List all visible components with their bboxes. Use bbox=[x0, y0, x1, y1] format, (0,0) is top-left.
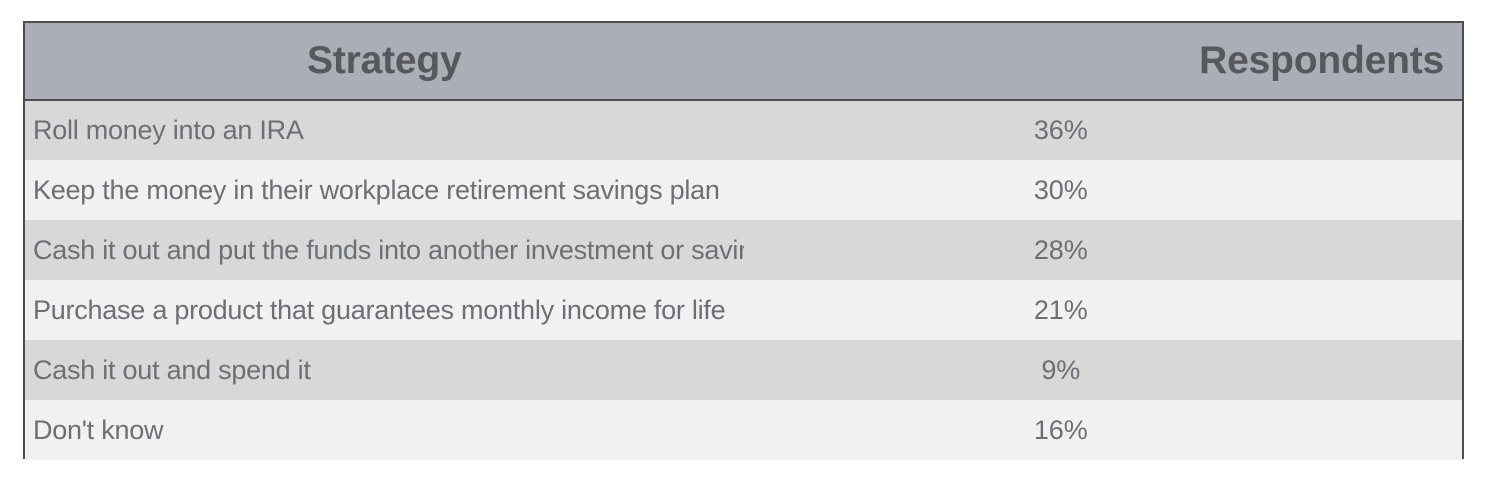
cell-strategy: Cash it out and spend it bbox=[25, 340, 744, 400]
table-body: Roll money into an IRA 36% Keep the mone… bbox=[25, 100, 1462, 460]
cell-strategy: Roll money into an IRA bbox=[25, 100, 744, 160]
table-row: Keep the money in their workplace retire… bbox=[25, 160, 1462, 220]
cell-strategy: Keep the money in their workplace retire… bbox=[25, 160, 744, 220]
cell-respondents: 30% bbox=[744, 160, 1463, 220]
cell-strategy: Cash it out and put the funds into anoth… bbox=[25, 220, 744, 280]
cell-respondents: 36% bbox=[744, 100, 1463, 160]
table-row: Roll money into an IRA 36% bbox=[25, 100, 1462, 160]
column-header-respondents[interactable]: Respondents bbox=[744, 23, 1463, 100]
cell-respondents: 21% bbox=[744, 280, 1463, 340]
table-header: Strategy Respondents bbox=[25, 23, 1462, 100]
cell-respondents: 28% bbox=[744, 220, 1463, 280]
cell-strategy: Purchase a product that guarantees month… bbox=[25, 280, 744, 340]
table-row: Don't know 16% bbox=[25, 400, 1462, 460]
cell-strategy: Don't know bbox=[25, 400, 744, 460]
strategy-respondents-table: Strategy Respondents Roll money into an … bbox=[23, 21, 1464, 459]
data-table: Strategy Respondents Roll money into an … bbox=[25, 23, 1462, 460]
header-row: Strategy Respondents bbox=[25, 23, 1462, 100]
table-row: Purchase a product that guarantees month… bbox=[25, 280, 1462, 340]
cell-respondents: 16% bbox=[744, 400, 1463, 460]
cell-respondents: 9% bbox=[744, 340, 1463, 400]
column-header-strategy[interactable]: Strategy bbox=[25, 23, 744, 100]
table-row: Cash it out and spend it 9% bbox=[25, 340, 1462, 400]
table-row: Cash it out and put the funds into anoth… bbox=[25, 220, 1462, 280]
